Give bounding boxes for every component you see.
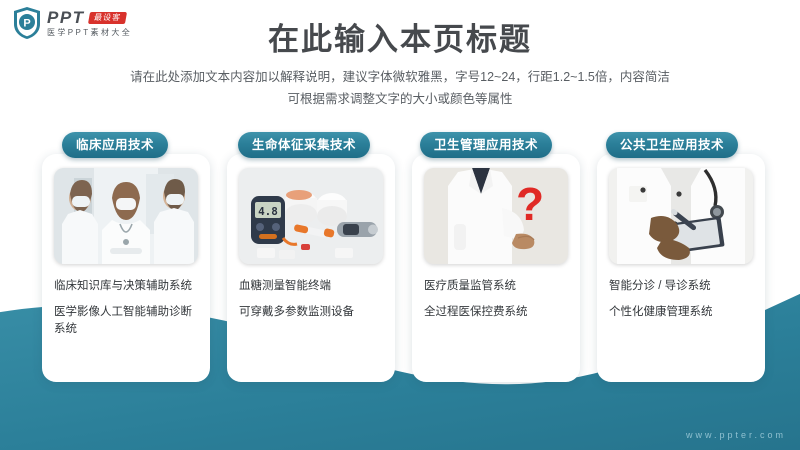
card-line: 医学影像人工智能辅助诊断系统 [54,304,198,338]
page-subtitle: 请在此处添加文本内容加以解释说明，建议字体微软雅黑，字号12~24，行距1.2~… [0,66,800,110]
masked-medical-team-photo [54,168,198,264]
card-line: 血糖测量智能终端 [239,278,383,295]
card-clinical[interactable]: 临床知识库与决策辅助系统 医学影像人工智能辅助诊断系统 [42,154,210,382]
card-vital-signs[interactable]: 4.8 [227,154,395,382]
question-mark-symbol: ? [516,178,544,230]
card-line: 个性化健康管理系统 [609,304,753,321]
card-body: 智能分诊 / 导诊系统 个性化健康管理系统 [597,154,765,382]
card-body: ? 医疗质量监管系统 全过程医保控费系统 [412,154,580,382]
subtitle-line-2: 可根据需求调整文字的大小或颜色等属性 [0,88,800,110]
card-body: 临床知识库与决策辅助系统 医学影像人工智能辅助诊断系统 [42,154,210,382]
logo-tagline: 医学PPT素材大全 [47,29,132,37]
card-line: 临床知识库与决策辅助系统 [54,278,198,295]
shield-letter: P [23,18,30,30]
card-public-health[interactable]: 智能分诊 / 导诊系统 个性化健康管理系统 [597,154,765,382]
card-line: 全过程医保控费系统 [424,304,568,321]
glucose-meter-photo: 4.8 [239,168,383,264]
card-health-management[interactable]: ? 医疗质量监管系统 全过程医保控费系统 [412,154,580,382]
doctor-clipboard-photo [609,168,753,264]
shield-icon: P [12,6,42,40]
subtitle-line-1: 请在此处添加文本内容加以解释说明，建议字体微软雅黑，字号12~24，行距1.2~… [0,66,800,88]
glucose-reading: 4.8 [258,205,278,218]
card-body: 4.8 [227,154,395,382]
card-line: 智能分诊 / 导诊系统 [609,278,753,295]
card-line: 可穿戴多参数监测设备 [239,304,383,321]
tab-health-management[interactable]: 卫生管理应用技术 [420,132,552,158]
card-line: 医疗质量监管系统 [424,278,568,295]
doctor-question-mark-photo: ? [424,168,568,264]
logo-wordmark: PPT [47,9,85,26]
footer-watermark: www.ppter.com [686,430,786,440]
tab-vital-signs[interactable]: 生命体征采集技术 [238,132,370,158]
tab-public-health[interactable]: 公共卫生应用技术 [606,132,738,158]
logo-badge: 最设客 [88,12,127,24]
slide-root: P PPT 最设客 医学PPT素材大全 在此输入本页标题 请在此处添加文本内容加… [0,0,800,450]
cards-container: 临床知识库与决策辅助系统 医学影像人工智能辅助诊断系统 [0,132,800,402]
brand-logo[interactable]: P PPT 最设客 医学PPT素材大全 [12,6,132,40]
tab-clinical[interactable]: 临床应用技术 [62,132,168,158]
